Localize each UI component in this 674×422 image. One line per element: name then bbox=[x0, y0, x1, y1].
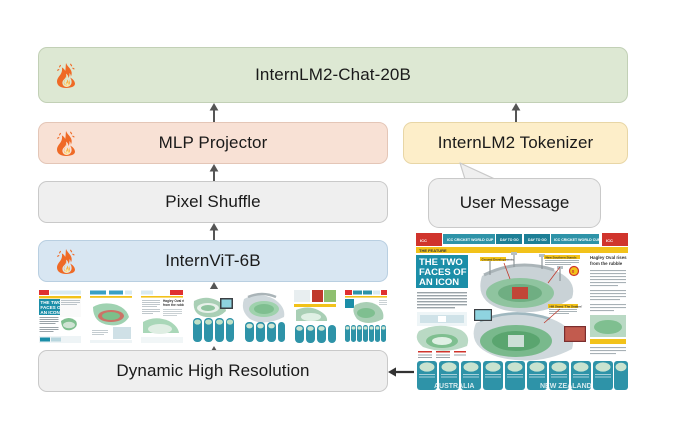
image-tile[interactable] bbox=[293, 289, 337, 344]
svg-text:ICC CRICKET WORLD CUP: ICC CRICKET WORLD CUP bbox=[447, 238, 494, 242]
user-message-bubble[interactable]: User Message bbox=[428, 178, 601, 228]
node-label-dynamic-high-resolution: Dynamic High Resolution bbox=[116, 361, 309, 381]
svg-text:Hill Stand 'The Snakes': Hill Stand 'The Snakes' bbox=[550, 304, 583, 308]
svg-text:New Southern Stands: New Southern Stands bbox=[546, 255, 577, 259]
svg-text:ICC: ICC bbox=[606, 238, 613, 243]
arrow-image-to-dynamic-res bbox=[388, 364, 414, 380]
node-internvit-6b[interactable]: InternViT-6B bbox=[38, 240, 388, 282]
image-tiles-strip: THE TWO FACES OF AN ICON bbox=[38, 287, 390, 344]
image-tile[interactable]: THE TWO FACES OF AN ICON bbox=[38, 289, 82, 344]
architecture-diagram: InternLM2-Chat-20B MLP Projector InternL… bbox=[0, 0, 674, 422]
node-label-mlp-projector: MLP Projector bbox=[159, 133, 268, 153]
image-tile[interactable] bbox=[344, 289, 388, 344]
svg-text:Ground Developments: Ground Developments bbox=[482, 257, 515, 261]
node-mlp-projector[interactable]: MLP Projector bbox=[38, 122, 388, 164]
fire-emoji-icon bbox=[55, 130, 77, 156]
node-label-internvit-6b: InternViT-6B bbox=[165, 251, 260, 271]
svg-text:DAY TO GO: DAY TO GO bbox=[528, 238, 547, 242]
node-pixel-shuffle[interactable]: Pixel Shuffle bbox=[38, 181, 388, 223]
node-label-pixel-shuffle: Pixel Shuffle bbox=[165, 192, 261, 212]
node-internlm2-tokenizer[interactable]: InternLM2 Tokenizer bbox=[403, 122, 628, 164]
image-tile[interactable] bbox=[89, 289, 133, 344]
svg-text:DAY TO GO: DAY TO GO bbox=[500, 238, 519, 242]
svg-text:from the rubble: from the rubble bbox=[163, 303, 184, 307]
image-tile[interactable]: Hagley Oval rises from the rubble bbox=[140, 289, 184, 344]
node-dynamic-high-resolution[interactable]: Dynamic High Resolution bbox=[38, 350, 388, 392]
user-message-label: User Message bbox=[460, 193, 570, 213]
input-image-newspaper-infographic[interactable]: ICC ICC CRICKET WORLD CUP DAY TO GO DAY … bbox=[414, 231, 630, 392]
node-label-internlm2-chat-20b: InternLM2-Chat-20B bbox=[255, 65, 411, 85]
svg-text:AN ICON: AN ICON bbox=[419, 277, 459, 288]
svg-text:ICC: ICC bbox=[420, 238, 427, 243]
image-tile[interactable] bbox=[242, 289, 286, 344]
fire-emoji-icon bbox=[55, 248, 77, 274]
svg-text:Hagley Oval rises: Hagley Oval rises bbox=[590, 255, 627, 260]
svg-text:from the rubble: from the rubble bbox=[590, 261, 623, 266]
svg-text:NEW ZEALAND: NEW ZEALAND bbox=[540, 383, 592, 390]
svg-text:AN ICON: AN ICON bbox=[40, 310, 60, 315]
fire-emoji-icon bbox=[55, 62, 77, 88]
svg-text:AUSTRALIA: AUSTRALIA bbox=[434, 383, 474, 390]
svg-text:ICC CRICKET WORLD CUP: ICC CRICKET WORLD CUP bbox=[554, 238, 601, 242]
node-label-internlm2-tokenizer: InternLM2 Tokenizer bbox=[438, 133, 594, 153]
svg-text:THE FEATURE: THE FEATURE bbox=[419, 248, 447, 253]
node-internlm2-chat-20b[interactable]: InternLM2-Chat-20B bbox=[38, 47, 628, 103]
image-tile[interactable] bbox=[191, 289, 235, 344]
